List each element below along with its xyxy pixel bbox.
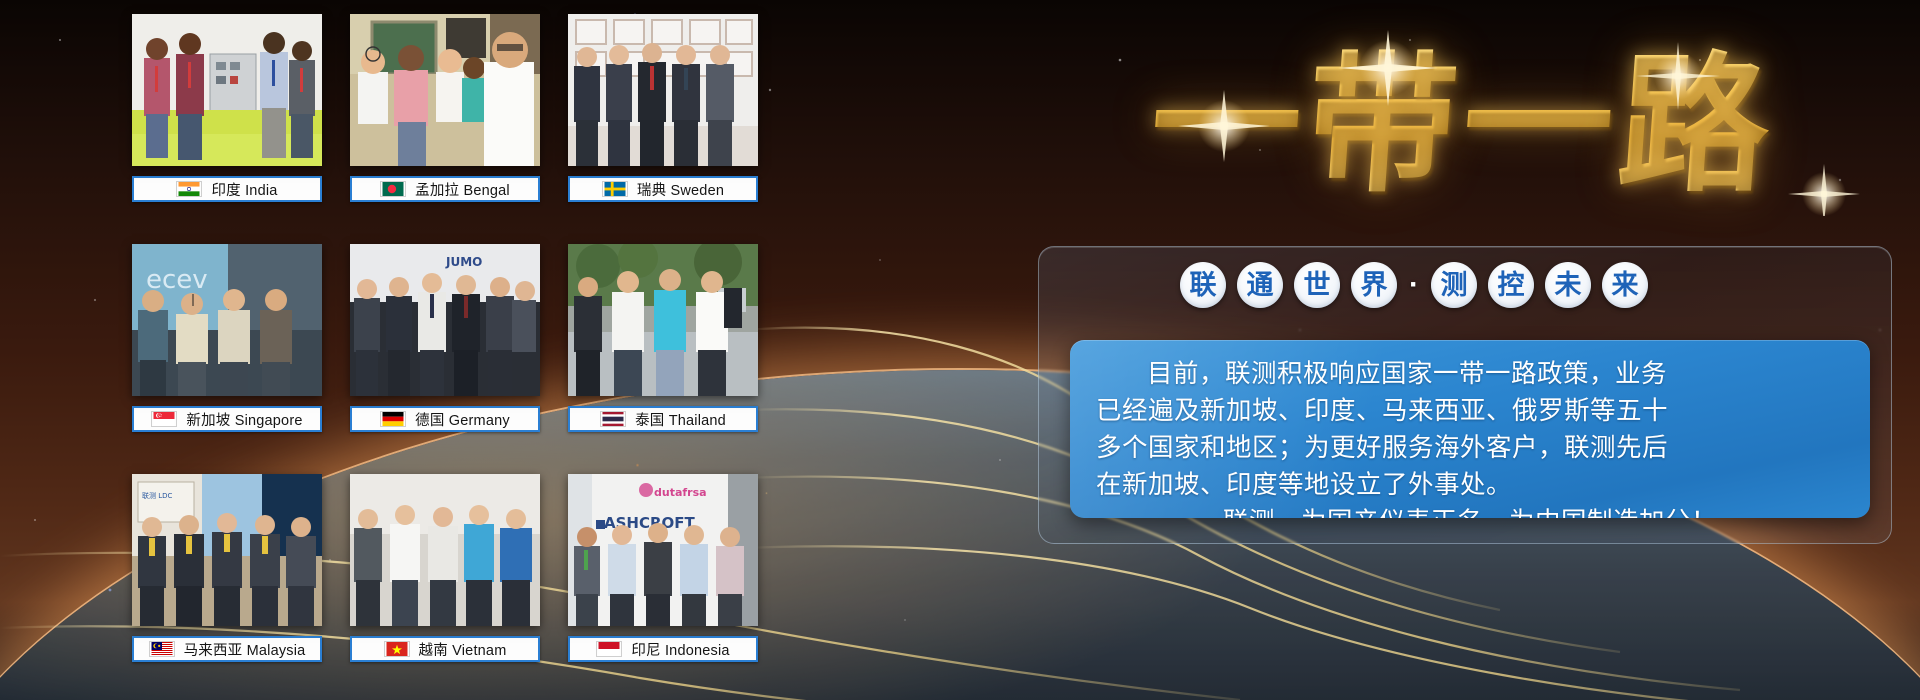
country-label-plate: 印尼 Indonesia (568, 636, 758, 662)
country-label-text: 越南 Vietnam (419, 639, 507, 660)
description-box: 目前，联测积极响应国家一带一路政策，业务 已经遍及新加坡、印度、马来西亚、俄罗斯… (1070, 340, 1870, 518)
gallery-card[interactable]: 印度 India (132, 14, 322, 224)
photo-vietnam-group (350, 474, 540, 626)
photo-germany-jumo: JUMO (350, 244, 540, 396)
country-label-plate: 孟加拉 Bengal (350, 176, 540, 202)
flag-thailand (600, 411, 626, 427)
flag-indonesia (596, 641, 622, 657)
gallery-card[interactable]: 越南 Vietnam (350, 474, 540, 684)
photo-bengal-visit (350, 14, 540, 166)
flag-germany (380, 411, 406, 427)
country-label-plate: 越南 Vietnam (350, 636, 540, 662)
slogan-char: 联 (1180, 262, 1226, 308)
country-photo-gallery: 印度 India (132, 14, 758, 686)
photo-sweden-team (568, 14, 758, 166)
country-label-text: 德国 Germany (415, 409, 510, 430)
svg-text:联测 LDC: 联测 LDC (142, 491, 173, 500)
slogan-char: 控 (1488, 262, 1534, 308)
flag-singapore (151, 411, 177, 427)
gallery-card[interactable]: 泰国 Thailand (568, 244, 758, 454)
gallery-card[interactable]: 孟加拉 Bengal (350, 14, 540, 224)
country-label-text: 新加坡 Singapore (186, 409, 302, 430)
slogan-row: 联 通 世 界 · 测 控 未 来 (1180, 262, 1648, 308)
slogan-char: 世 (1294, 262, 1340, 308)
photo-malaysia-booth: 联测 LDC (132, 474, 322, 626)
description-line-3: 多个国家和地区；为更好服务海外客户，联测先后 (1096, 430, 1844, 467)
gallery-card[interactable]: 联测 LDC (132, 474, 322, 684)
photo-indonesia-ashcroft: dutafrsa ASHCROFT (568, 474, 758, 626)
description-line-1: 目前，联测积极响应国家一带一路政策，业务 (1096, 356, 1844, 393)
flag-india (176, 181, 202, 197)
flag-bangladesh (380, 181, 406, 197)
description-line-4: 在新加坡、印度等地设立了外事处。 (1096, 467, 1844, 504)
country-label-plate: 马来西亚 Malaysia (132, 636, 322, 662)
country-label-plate: 瑞典 Sweden (568, 176, 758, 202)
flag-malaysia (149, 641, 175, 657)
headline-calligraphy: 一带一路 (1028, 8, 1900, 216)
country-label-text: 泰国 Thailand (635, 409, 726, 430)
gallery-card[interactable]: ecev (132, 244, 322, 454)
country-label-plate: 印度 India (132, 176, 322, 202)
slogan-char: 来 (1602, 262, 1648, 308)
photo-singapore-office: ecev (132, 244, 322, 396)
gallery-card[interactable]: JUMO (350, 244, 540, 454)
headline-text: 一带一路 (1021, 8, 1908, 216)
description-line-2: 已经遍及新加坡、印度、马来西亚、俄罗斯等五十 (1096, 393, 1844, 430)
country-label-plate: 泰国 Thailand (568, 406, 758, 432)
country-label-text: 马来西亚 Malaysia (184, 639, 306, 660)
slogan-char: 测 (1431, 262, 1477, 308)
slogan-char: 通 (1237, 262, 1283, 308)
flag-vietnam (384, 641, 410, 657)
photo-india-exhibition (132, 14, 322, 166)
photo-thailand-outdoor (568, 244, 758, 396)
country-label-plate: 德国 Germany (350, 406, 540, 432)
slogan-separator: · (1408, 270, 1420, 300)
country-label-text: 印尼 Indonesia (631, 639, 729, 660)
country-label-text: 瑞典 Sweden (637, 179, 724, 200)
gallery-card[interactable]: dutafrsa ASHCROFT (568, 474, 758, 684)
svg-text:JUMO: JUMO (445, 255, 482, 269)
slogan-char: 未 (1545, 262, 1591, 308)
flag-sweden (602, 181, 628, 197)
country-label-plate: 新加坡 Singapore (132, 406, 322, 432)
description-line-5: 联测，为国产仪表正名，为中国制造加分！ (1096, 504, 1844, 518)
slogan-char: 界 (1351, 262, 1397, 308)
svg-text:dutafrsa: dutafrsa (654, 486, 707, 499)
country-label-text: 印度 India (211, 179, 277, 200)
country-label-text: 孟加拉 Bengal (415, 179, 510, 200)
gallery-card[interactable]: 瑞典 Sweden (568, 14, 758, 224)
banner-root: 印度 India (0, 0, 1920, 700)
